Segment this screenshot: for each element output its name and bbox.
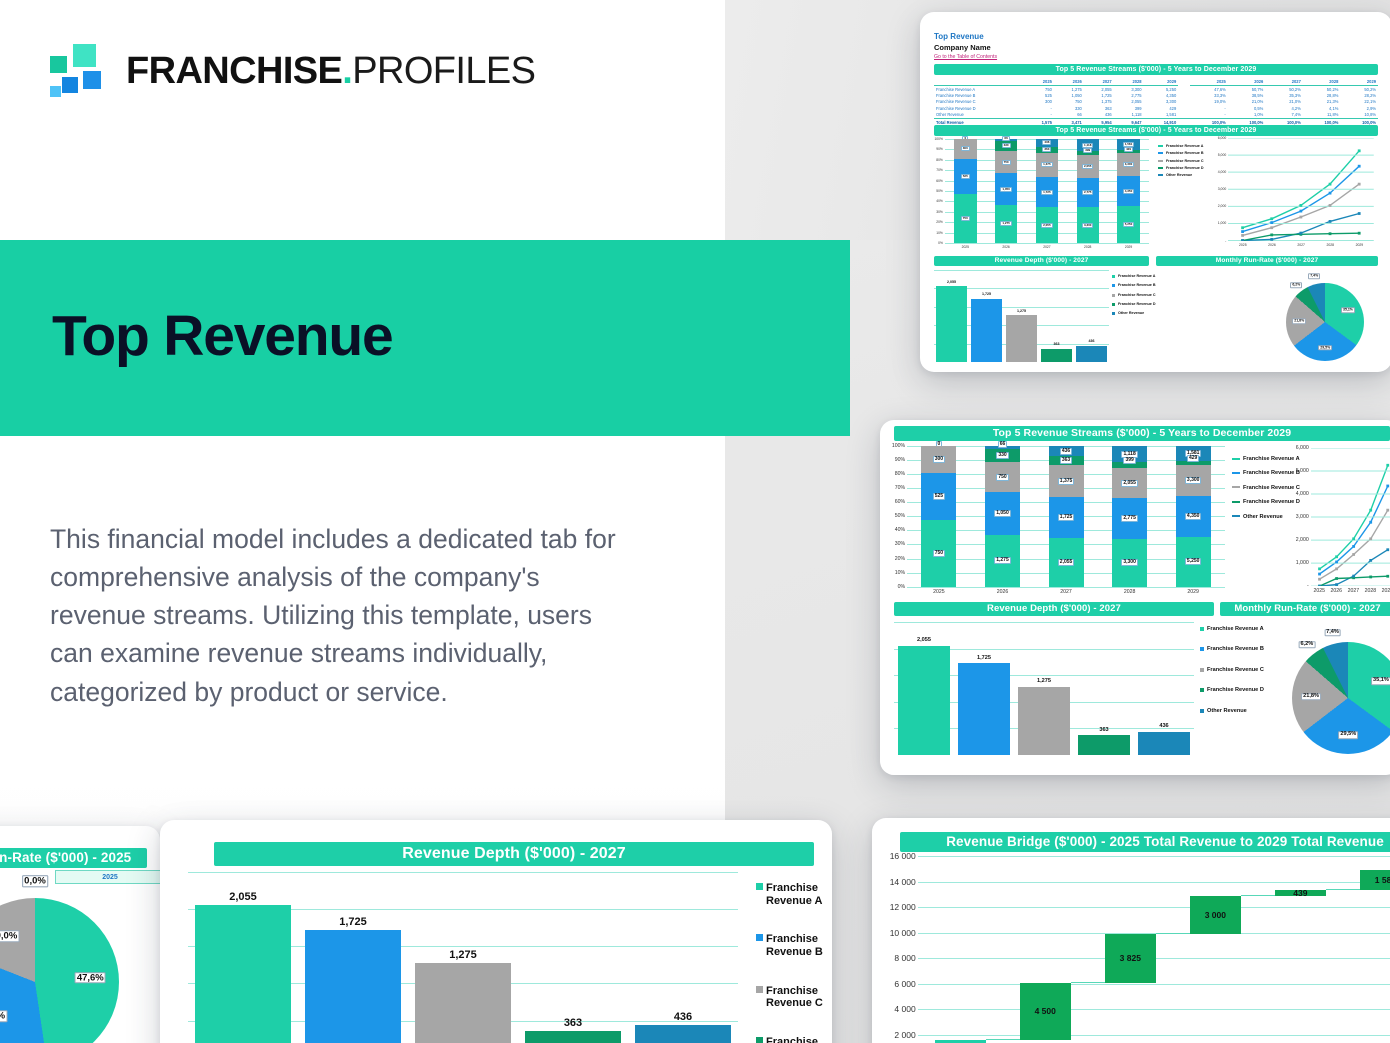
bar-segment: 3,300 [1176,465,1211,496]
bar-column: 663307501,0501,275 [995,139,1017,243]
y-tick: 4 000 [894,1004,915,1014]
bar-value-label: 2,055 [894,638,954,644]
y-tick: 16 000 [890,851,916,861]
bar-segment: 436 [1049,446,1084,456]
bar-column: 363 [1039,270,1074,362]
bar: 4 500 [1020,983,1071,1040]
x-tick: 2027 [1027,245,1068,249]
pie-label: 35,1% [1371,678,1390,686]
y-tick: 40% [895,527,905,533]
logo-squares-icon [50,44,112,98]
bar-column: 1,725 [969,270,1004,362]
bar-value-label: 363 [1074,728,1134,734]
screenshot-card-revenue-depth[interactable]: Revenue Depth ($'000) - 2027 2,0551,7251… [160,820,832,1043]
x-tick: 2029 [1345,243,1374,247]
y-tick: 0% [898,584,906,590]
y-tick: 30% [895,541,905,547]
bar-value-label: 525 [961,174,970,179]
y-tick: 4,000 [1218,170,1227,174]
bar [525,1031,622,1043]
legend-label: Franchise Revenue A [1166,144,1203,148]
legend-item: Franchise Revenue B [1200,646,1264,652]
bar-segment: 1,050 [995,173,1017,204]
bar-column: 436 [1074,270,1109,362]
bar-segment: 3,300 [1077,207,1099,243]
bar-value-label: 2,775 [1121,515,1138,522]
legend-item: Franchise Revenue A [756,882,832,907]
x-tick: 2025 [907,589,971,595]
bar [635,1025,732,1043]
bar-segment: 330 [995,141,1017,151]
bar-value-label: 363 [1039,343,1074,347]
legend-marker [1158,167,1163,169]
bar-value-label: 399 [1083,148,1092,153]
bar-segment: 1,050 [985,492,1020,535]
logo-word-bold: FRANCHISE [126,50,342,92]
legend-label: Other Revenue [1166,173,1192,177]
screenshot-card-revenue-bridge[interactable]: Revenue Bridge ($'000) - 2025 Total Reve… [872,818,1390,1043]
bar-value-label: 330 [1002,143,1011,148]
bar-segment: 1,375 [1036,153,1058,177]
bar-value-label: 429 [1187,455,1199,462]
legend-stacked-large: Franchise Revenue AFranchise Revenue BFr… [1232,456,1300,528]
plot-area: 0300525750663307501,0501,2754363631,3751… [907,446,1225,587]
chart-stacked-revenue-mini: 0%10%20%30%40%50%60%70%80%90%100%0300525… [934,139,1149,251]
bar-value-label: 2,775 [1082,190,1094,195]
bar-value-label: 2,055 [1121,480,1138,487]
x-tick: 2027 [1345,588,1362,594]
chart-revenue-bridge: -2 0004 0006 0008 00010 00012 00014 0001… [882,856,1390,1043]
legend-label: Other Revenue [1118,311,1144,315]
legend-marker [1200,709,1204,713]
bar-segment: 2,055 [1077,155,1099,177]
legend-marker [1232,472,1240,474]
bar: 1 581 [1360,870,1390,890]
bar-value-label: 436 [1042,140,1051,145]
table-row: Franchise Revenue A 7501,2752,0553,3005,… [934,86,1378,93]
bar-value-label: 4,350 [1123,189,1135,194]
bar-group: 0300525750663307501,0501,2754363631,3751… [907,446,1225,587]
legend-label: Franchise Revenue C [1118,293,1156,297]
bar-value-label: 1,375 [1041,162,1053,167]
y-tick: 70% [895,485,905,491]
bar-segment: 2,055 [1036,207,1058,243]
bar-column: 1,1183992,0552,7753,300 [1112,446,1147,587]
bar [1078,735,1131,754]
legend-marker [1112,312,1115,315]
legend-item: Franchise Revenue D [1200,687,1264,693]
bar-value-label: 436 [1074,340,1109,344]
bar-segment: 1,725 [1049,497,1084,538]
y-tick: 10% [936,231,943,235]
legend-marker [1112,294,1115,297]
bar-segment: 4,350 [1117,176,1139,206]
bar-segment: 1,275 [995,205,1017,243]
legend-label: Franchise Revenue C [1166,159,1204,163]
bar-value-label: 1,050 [994,510,1011,517]
legend-label: Franchise Revenue B [766,933,832,958]
th-2028-pct: 2028 [1303,78,1341,86]
revenue-streams-table: 2025 2026 2027 2028 2029 2025 2026 2027 … [934,78,1378,125]
x-tick: 2025 [1228,243,1257,247]
gridline [918,882,1390,883]
bar [1076,346,1107,362]
bar-segment: 750 [995,151,1017,173]
y-tick: 50% [936,189,943,193]
bar-value-label: 3,300 [1185,477,1202,484]
depth-card-title: Revenue Depth ($'000) - 2027 [214,842,814,866]
y-tick: 0% [938,241,943,245]
legend-marker [1158,174,1163,176]
legend-item: Franchise Revenue B [1232,470,1300,476]
bar-column: 4363631,3751,7252,055 [1049,446,1084,587]
bar-value-label: 1,275 [994,557,1011,564]
connector [1241,895,1275,896]
y-tick: 1,000 [1296,560,1309,566]
chart-revenue-depth-big: 2,0551,7251,275363436 [188,872,738,1043]
y-tick: - [1307,583,1309,589]
bar-segment: 436 [1036,139,1058,147]
legend-label: Franchise Revenue D [766,1036,832,1043]
bar: 3 000 [1190,896,1241,934]
pie2025-title: Monthly Run-Rate ($'000) - 2025 [0,848,147,868]
y-tick: 2,000 [1296,537,1309,543]
x-axis-categories: 20252026202720282029 [1311,588,1390,594]
bar-segment: 363 [1049,456,1084,465]
legend-item: Other Revenue [1232,514,1300,520]
legend-label: Other Revenue [1243,514,1283,520]
legend-label: Franchise Revenue A [1207,626,1264,632]
y-tick: 10 000 [890,928,916,938]
sheet-title: Top Revenue [934,32,984,41]
legend-item: Franchise Revenue A [1158,144,1204,148]
bar: 439 [1275,890,1326,896]
bar-column: 2,055 [188,872,298,1043]
connector [1156,933,1190,934]
legend-item: Other Revenue [1112,311,1156,315]
bar-column: 1,275 [1014,622,1074,755]
bar [1018,687,1071,755]
y-tick: - [1225,239,1226,243]
bar-value-label: 1,725 [1058,514,1075,521]
bar-segment: 525 [921,473,956,520]
pie2025-year-tag: 2025 [55,870,160,884]
y-tick: 80% [895,471,905,477]
legend-item: Franchise Revenue A [1112,274,1156,278]
th-2026-val: 2026 [1054,78,1084,86]
bar-value-label: 1,725 [298,917,408,928]
y-tick: 100% [934,137,942,141]
bar-value-label: 1,375 [1058,478,1075,485]
y-tick: 2,000 [1218,204,1227,208]
y-tick: 90% [895,457,905,463]
bar-column: 436 [628,872,738,1043]
table-row: Other Revenue -664361,1181,581 -1,0%7,4%… [934,112,1378,119]
connector [986,1039,1020,1040]
pie-label: 7,4% [1324,629,1341,637]
legend-label: Franchise Revenue D [1207,687,1264,693]
table-header-row: 2025 2026 2027 2028 2029 2025 2026 2027 … [934,78,1378,86]
x-tick: 2026 [1328,588,1345,594]
y-tick: 3,000 [1218,187,1227,191]
bar-value-label: 363 [1042,147,1051,152]
x-tick: 2027 [1287,243,1316,247]
sheet-section1-title: Top 5 Revenue Streams ($'000) - 5 Years … [934,64,1378,75]
line-plot [1228,138,1374,241]
legend-item: Franchise Revenue D [756,1036,832,1043]
bar-value-label: 300 [961,146,970,151]
x-axis-categories: 20252026202720282029 [907,589,1225,595]
y-tick: 50% [895,513,905,519]
pie-label: 29,5% [1318,345,1332,351]
bar-value-label: 5,250 [1123,222,1135,227]
bar-value-label: 750 [1002,160,1011,165]
bar-value-label: 363 [518,1018,628,1029]
bar-column: 1,275 [1004,270,1039,362]
plot-area: 1 5754 5003 8253 0004391 581 [918,856,1390,1043]
pie-label: 6,2% [1290,282,1302,288]
hero-description: This financial model includes a dedicate… [50,520,620,711]
legend-marker [1200,647,1204,651]
bar-value-label: 300 [933,456,945,463]
screenshot-card-spreadsheet[interactable]: Top Revenue Company Name Go to the Table… [920,12,1390,372]
pie-label: 7,4% [1308,274,1320,280]
legend-depth-mini: Franchise Revenue AFranchise Revenue BFr… [1112,274,1156,320]
bar-column: 0300525750 [954,139,976,243]
bar [971,299,1002,363]
bar-segment: 2,055 [1049,538,1084,587]
bar-segment: 5,250 [1117,206,1139,243]
y-axis-labels: 0%10%20%30%40%50%60%70%80%90%100% [934,139,945,243]
bar [1006,315,1037,362]
legend-label: Franchise Revenue C [1207,667,1264,673]
y-tick: 60% [936,179,943,183]
bar-group: 2,0551,7251,275363436 [188,872,738,1043]
th-2025-pct: 2025 [1190,78,1228,86]
legend-label: Other Revenue [1207,708,1247,714]
legend-item: Franchise Revenue B [1112,283,1156,287]
bar-column: 1,1183992,0552,7753,300 [1077,139,1099,243]
bar-value-label: 436 [1060,448,1072,455]
bar-value-label: 3,300 [1082,223,1094,228]
gridline [918,1035,1390,1036]
bar-segment: 4,350 [1176,496,1211,537]
x-tick: 2028 [1098,589,1162,595]
bar [415,963,512,1043]
y-tick: 20% [936,220,943,224]
x-tick: 2028 [1316,243,1345,247]
sheet-company: Company Name [934,43,991,52]
bar-value-label: 429 [1124,147,1133,152]
legend-label: Franchise Revenue A [766,882,832,907]
y-tick: 60% [895,499,905,505]
bar-column: 2,055 [894,622,954,755]
bar-value-label: 1,275 [408,950,518,961]
legend-item: Franchise Revenue B [756,933,832,958]
bar-value-label: 2,055 [934,281,969,285]
y-tick: 6,000 [1296,445,1309,451]
gridline [918,1009,1390,1010]
bar-value-label: 66 [998,441,1008,448]
legend-item: Franchise Revenue D [1158,166,1204,170]
x-axis-categories: 20252026202720282029 [945,245,1149,249]
bar-value-label: 399 [1123,457,1135,464]
legend-item: Franchise Revenue A [1232,456,1300,462]
bar-segment: 2,055 [1112,468,1147,498]
y-tick: 40% [936,199,943,203]
pie-label: 33,3% [0,1011,7,1023]
legend-item: Franchise Revenue C [1158,159,1204,163]
bar-value-label: 4,350 [1185,513,1202,520]
legend-marker [1232,458,1240,460]
chart-pie-2025: 47,6%33,3%19,0%0,0%0,0% [0,886,160,1043]
bar-segment: 3,300 [1117,153,1139,176]
bar-segment: 1,725 [1036,177,1058,207]
th-2026-pct: 2026 [1228,78,1266,86]
legend-marker [1232,486,1240,488]
y-tick: 5,000 [1218,153,1227,157]
bar-value-label: 1,275 [1004,310,1039,314]
bar-segment: 750 [985,462,1020,492]
legend-marker [1112,284,1115,287]
bar-value-label: 1,725 [969,293,1004,297]
page-title: Top Revenue [52,308,392,365]
chart-monthly-run-rate-line-large: -1,0002,0003,0004,0005,0006,000202520262… [1292,448,1390,600]
bar [1041,349,1072,362]
line-plot [1311,448,1390,586]
bar-value-label: 3,300 [1123,162,1135,167]
connector [1071,982,1105,983]
bar-segment: 2,775 [1112,498,1147,538]
bar-value-label: 3,300 [1121,559,1138,566]
y-tick: 30% [936,210,943,214]
bar-column: 436 [1134,622,1194,755]
bar-column: 363 [1074,622,1134,755]
bar [898,646,951,755]
legend-item: Other Revenue [1200,708,1264,714]
bar-segment: 750 [921,520,956,587]
bar-segment: 1,275 [985,535,1020,587]
legend-depth-large: Franchise Revenue AFranchise Revenue BFr… [1200,626,1264,728]
y-tick: 2 000 [894,1030,915,1040]
pie-label: 19,0% [0,930,19,942]
bar-column: 1,725 [298,872,408,1043]
legend-item: Franchise Revenue D [1112,302,1156,306]
bar-group: 0300525750663307501,0501,2754363631,3751… [945,139,1149,243]
pie-label: 0,0% [22,875,48,887]
bar-value-label: 330 [996,452,1008,459]
th-2027-pct: 2027 [1265,78,1303,86]
y-axis-labels: 0%10%20%30%40%50%60%70%80%90%100% [890,446,907,587]
bar-value-label: 1,050 [1000,187,1012,192]
logo-dot: . [342,50,352,92]
bar-column: 1,5814293,3004,3505,250 [1176,446,1211,587]
legend-label: Franchise Revenue C [766,985,832,1010]
y-tick: 4,000 [1296,491,1309,497]
legend-label: Franchise Revenue B [1118,283,1156,287]
bar-value-label: 1,275 [1000,221,1012,226]
th-2025-val: 2025 [1024,78,1054,86]
legend-item: Franchise Revenue C [1232,485,1300,491]
sheet-toc-link[interactable]: Go to the Table of Contents [934,54,997,60]
legend-label: Franchise Revenue B [1207,646,1264,652]
bar: 3 825 [1105,934,1156,983]
bar-value-label: 436 [1134,724,1194,730]
x-tick: 2027 [1034,589,1098,595]
logo-word-light: PROFILES [352,50,535,92]
legend-stacked-mini: Franchise Revenue AFranchise Revenue BFr… [1158,144,1204,180]
y-tick: 100% [892,443,905,449]
th-2029-pct: 2029 [1340,78,1378,86]
legend-marker [756,1037,763,1043]
legend-marker [1200,668,1204,672]
legend-marker [1158,145,1163,147]
legend-item: Franchise Revenue B [1158,151,1204,155]
bar-column: 2,055 [934,270,969,362]
gridline [918,984,1390,985]
legend-item: Franchise Revenue A [1200,626,1264,632]
legend-label: Franchise Revenue D [1118,302,1156,306]
bar-value-label: 525 [933,493,945,500]
x-tick: 2028 [1362,588,1379,594]
card2-section4-title: Monthly Run-Rate ($'000) - 2027 [1220,602,1390,616]
bar-segment: 3,300 [1112,539,1147,587]
legend-label: Franchise Revenue A [1118,274,1155,278]
bar-segment: 750 [954,194,976,244]
y-tick: 5,000 [1296,468,1309,474]
legend-label: Franchise Revenue B [1166,151,1204,155]
pie-label: 47,6% [75,972,106,984]
chart-revenue-depth-mini: 2,0551,7251,275363436 [934,270,1109,370]
bar-column: 1,5814293,3004,3505,250 [1117,139,1139,243]
legend-marker [1200,688,1204,692]
bar-value-label: 66 [1002,136,1009,141]
bar-segment: 330 [985,449,1020,462]
sheet-section3-title: Revenue Depth ($'000) - 2027 [934,256,1149,266]
connector [1326,889,1360,890]
legend-depth-big: Franchise Revenue AFranchise Revenue BFr… [756,882,832,1043]
th-2029-val: 2029 [1144,78,1179,86]
x-tick: 2026 [1257,243,1286,247]
pie-slices [0,898,119,1043]
legend-marker [1158,152,1163,154]
legend-marker [1158,160,1163,162]
x-tick: 2026 [971,589,1035,595]
bar [958,663,1011,755]
legend-marker [756,883,763,890]
pie-label: 29,5% [1338,731,1358,739]
table-body: Franchise Revenue A 7501,2752,0553,3005,… [934,86,1378,126]
x-axis-categories: 20252026202720282029 [1228,243,1374,247]
bar-value-label: 1,725 [954,656,1014,662]
logo-wordmark: FRANCHISE.PROFILES [126,52,535,90]
card2-section1-title: Top 5 Revenue Streams ($'000) - 5 Years … [894,426,1390,441]
bar-value-label: 436 [628,1012,738,1023]
bar-value-label: 750 [996,474,1008,481]
chart-revenue-depth-large: 2,0551,7251,275363436 [894,622,1194,767]
bar-column: 363 [518,872,628,1043]
screenshot-card-pie-2025[interactable]: Monthly Run-Rate ($'000) - 2025 2025 47,… [0,826,160,1043]
chart-run-rate-pie-mini: 35,1%29,5%21,8%6,2%7,4% [1175,274,1375,372]
y-tick: 6,000 [1218,136,1227,140]
y-tick: 14 000 [890,877,916,887]
bar-value-label: 750 [961,216,970,221]
screenshot-card-charts[interactable]: Top 5 Revenue Streams ($'000) - 5 Years … [880,420,1390,775]
pie-label: 21,8% [1301,693,1321,701]
bridge-card-title: Revenue Bridge ($'000) - 2025 Total Reve… [900,832,1390,852]
gridline [907,587,1225,588]
x-tick: 2025 [945,245,986,249]
